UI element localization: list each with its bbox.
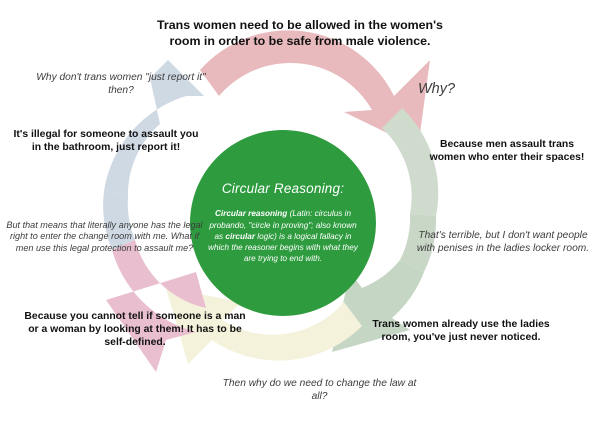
label-why: Why? <box>418 80 518 98</box>
label-right-mid: That's terrible, but I don't want people… <box>412 230 594 256</box>
label-left-note: But that means that literally anyone has… <box>2 220 207 254</box>
label-bottom: Then why do we need to change the law at… <box>222 378 417 404</box>
definition-term-2: circular <box>225 232 255 241</box>
label-bottom-right: Trans women already use the ladies room,… <box>372 318 550 344</box>
center-title: Circular Reasoning: <box>222 181 344 196</box>
center-definition: Circular reasoning (Latin: circulus in p… <box>206 208 360 265</box>
center-circle: Circular Reasoning: Circular reasoning (… <box>190 130 376 316</box>
definition-term: Circular reasoning <box>215 209 287 218</box>
label-right-top: Because men assault trans women who ente… <box>422 138 592 164</box>
label-bottom-left: Because you cannot tell if someone is a … <box>22 310 248 349</box>
label-top-claim: Trans women need to be allowed in the wo… <box>150 18 450 49</box>
label-left-answer: It's illegal for someone to assault you … <box>8 128 204 154</box>
label-left-question: Why don't trans women "just report it" t… <box>28 72 214 98</box>
circular-reasoning-infographic: Circular Reasoning: Circular reasoning (… <box>0 0 600 448</box>
